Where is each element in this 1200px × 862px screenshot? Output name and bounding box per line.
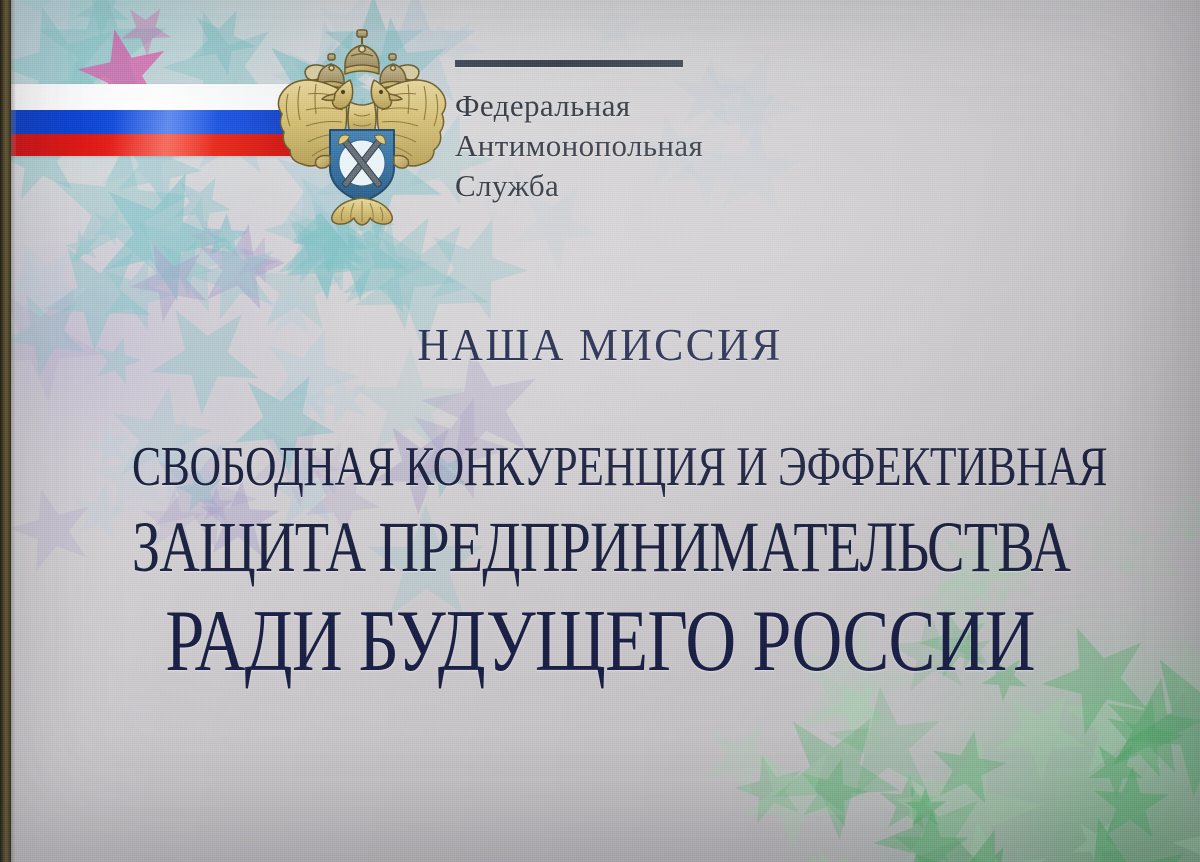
photo-grain — [0, 0, 1200, 862]
fas-mission-poster: Федеральная Антимонопольная Служба НАША … — [0, 0, 1200, 862]
